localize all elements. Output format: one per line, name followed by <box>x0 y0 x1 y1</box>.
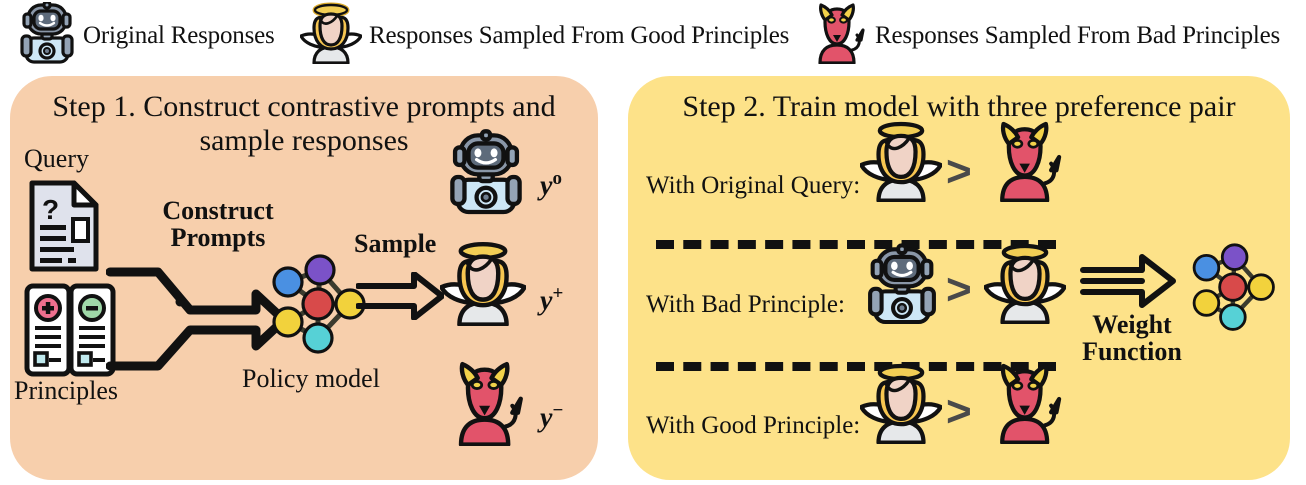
legend-label-original-responses: Original Responses <box>83 22 275 50</box>
step2-panel: Step 2. Train model with three preferenc… <box>628 76 1290 480</box>
row1-operator: > <box>946 150 972 194</box>
weight-function-line1: Weight <box>1080 312 1184 339</box>
row2-operator: > <box>946 268 972 312</box>
output-label-good: y+ <box>540 283 563 317</box>
row3-devil-icon <box>986 362 1066 449</box>
sample-arrow-icon <box>356 272 444 325</box>
row3-angel-icon <box>860 362 942 449</box>
angel-icon <box>300 2 362 69</box>
principles-icon <box>24 282 116 383</box>
row3-operator: > <box>946 390 972 434</box>
row-label-original-query: With Original Query: <box>646 172 860 200</box>
legend: Original Responses Respon <box>0 0 1306 68</box>
sample-label: Sample <box>354 231 436 258</box>
row-label-bad-principle: With Bad Principle: <box>646 291 845 319</box>
legend-label-good-principles: Responses Sampled From Good Principles <box>369 22 789 50</box>
output-robot-icon <box>447 128 525 223</box>
output-sup-good: + <box>552 283 563 304</box>
row2-robot-icon <box>865 242 939 333</box>
output-label-original: yo <box>540 168 562 202</box>
legend-label-bad-principles: Responses Sampled From Bad Principles <box>875 22 1280 50</box>
construct-prompts-label: Construct Prompts <box>138 198 298 251</box>
step1-panel: Step 1. Construct contrastive prompts an… <box>10 76 598 480</box>
legend-item-good-principles: Responses Sampled From Good Principles <box>300 2 789 69</box>
policy-model-label: Policy model <box>242 364 380 394</box>
weight-function-line2: Function <box>1080 339 1184 366</box>
row-label-good-principle: With Good Principle: <box>646 412 860 440</box>
output-devil-icon <box>444 360 528 451</box>
output-symbol-original: y <box>540 170 552 201</box>
weight-function-label: Weight Function <box>1080 312 1184 365</box>
output-sup-original: o <box>552 168 562 189</box>
output-symbol-good: y <box>540 285 552 316</box>
step2-title: Step 2. Train model with three preferenc… <box>628 90 1290 124</box>
output-symbol-bad: y <box>540 402 552 433</box>
output-sup-bad: − <box>552 400 563 421</box>
query-label: Query <box>24 144 89 174</box>
row2-angel-icon <box>984 242 1066 329</box>
robot-icon <box>18 2 76 69</box>
diagram-root: Original Responses Respon <box>0 0 1306 485</box>
output-label-bad: y− <box>540 400 563 434</box>
legend-item-original-responses: Original Responses <box>18 2 275 69</box>
row1-angel-icon <box>860 120 942 207</box>
svg-text:?: ? <box>42 194 59 225</box>
principles-label: Principles <box>14 376 118 406</box>
weight-function-arrow-icon <box>1080 254 1176 313</box>
construct-prompts-line1: Construct <box>138 198 298 225</box>
row1-devil-icon <box>986 120 1066 207</box>
output-neural-network-icon <box>1180 236 1284 345</box>
legend-item-bad-principles: Responses Sampled From Bad Principles <box>808 2 1280 69</box>
query-document-icon: ? <box>26 179 102 278</box>
output-angel-icon <box>440 240 526 331</box>
devil-icon <box>808 2 868 69</box>
